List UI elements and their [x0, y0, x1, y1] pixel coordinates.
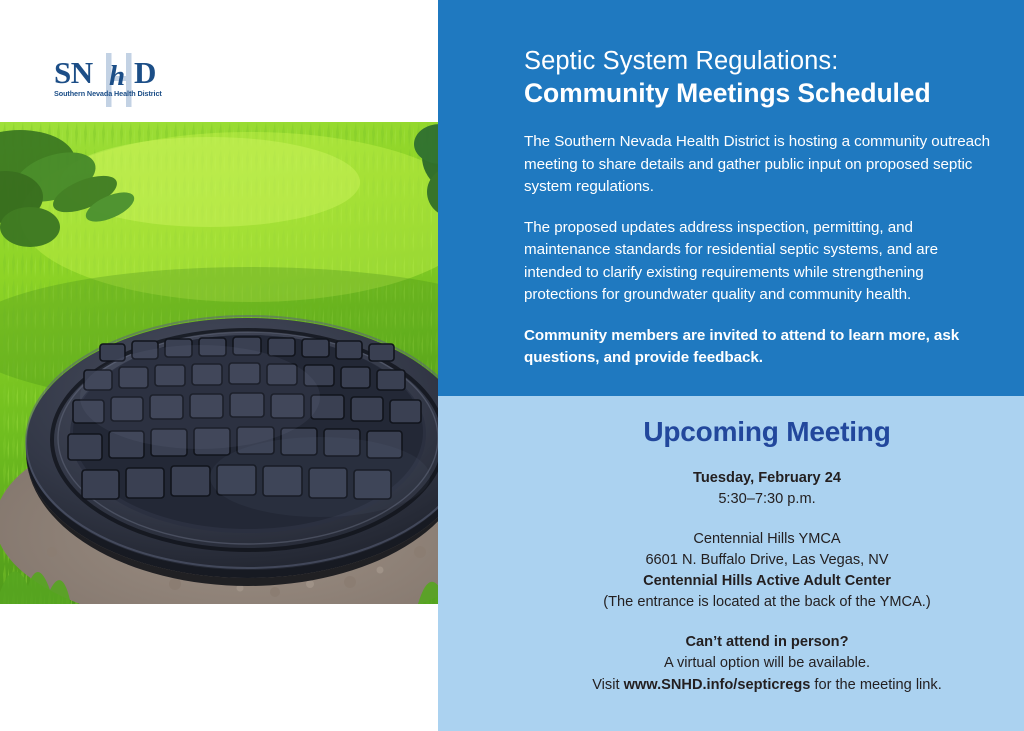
snhd-logo-svg: SN h D Southern Nevada Health District [50, 50, 180, 108]
svg-text:h: h [109, 60, 125, 92]
upcoming-meeting-heading: Upcoming Meeting [438, 416, 1024, 448]
svg-text:SN: SN [54, 55, 93, 90]
meeting-location-block: Centennial Hills YMCA 6601 N. Buffalo Dr… [438, 529, 1024, 612]
body-paragraph-1: The Southern Nevada Health District is h… [524, 131, 990, 199]
visit-prefix: Visit [592, 677, 623, 693]
septic-tank-lid-photo [0, 122, 498, 604]
virtual-availability: A virtual option will be available. [510, 653, 1024, 674]
meeting-venue: Centennial Hills YMCA [510, 529, 1024, 550]
headline-panel: Septic System Regulations: Community Mee… [438, 0, 1024, 396]
meeting-date: Tuesday, February 24 [510, 468, 1024, 489]
body-paragraph-2: The proposed updates address inspection,… [524, 217, 990, 307]
virtual-option-block: Can’t attend in person? A virtual option… [438, 632, 1024, 695]
meeting-address: 6601 N. Buffalo Drive, Las Vegas, NV [510, 550, 1024, 571]
snhd-logo: SN h D Southern Nevada Health District [50, 50, 180, 108]
meeting-room: Centennial Hills Active Adult Center [510, 571, 1024, 592]
meeting-datetime-block: Tuesday, February 24 5:30–7:30 p.m. [438, 468, 1024, 509]
spacer [438, 612, 1024, 632]
spacer [438, 509, 1024, 529]
flyer-page: SN h D Southern Nevada Health District [0, 0, 1024, 731]
photo-illustration [0, 122, 498, 604]
headline-content: Septic System Regulations: Community Mee… [524, 46, 990, 370]
svg-text:D: D [134, 55, 156, 90]
virtual-visit-line: Visit www.SNHD.info/septicregs for the m… [510, 675, 1024, 696]
visit-suffix: for the meeting link. [810, 677, 941, 693]
body-paragraph-3-callout: Community members are invited to attend … [524, 325, 990, 370]
meeting-time: 5:30–7:30 p.m. [510, 489, 1024, 510]
virtual-heading: Can’t attend in person? [510, 632, 1024, 653]
meeting-details-panel: Upcoming Meeting Tuesday, February 24 5:… [438, 396, 1024, 731]
page-title-line2: Community Meetings Scheduled [524, 78, 990, 109]
meeting-url-link[interactable]: www.SNHD.info/septicregs [624, 677, 811, 693]
svg-text:Southern Nevada Health Distric: Southern Nevada Health District [54, 89, 162, 98]
logo-zone: SN h D Southern Nevada Health District [0, 0, 438, 122]
meeting-details-content: Upcoming Meeting Tuesday, February 24 5:… [438, 396, 1024, 696]
meeting-entrance-note: (The entrance is located at the back of … [510, 592, 1024, 613]
page-title-line1: Septic System Regulations: [524, 46, 990, 76]
